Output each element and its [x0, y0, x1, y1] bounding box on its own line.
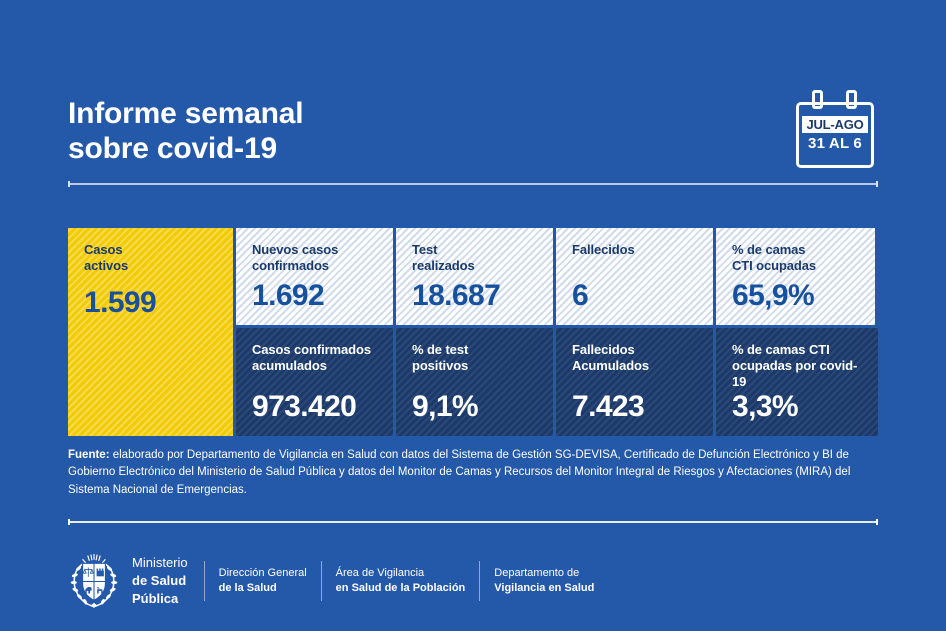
stats-grid: Casos activos 1.599 Nuevos casos confirm… [68, 228, 878, 436]
stat-value: 6 [572, 279, 588, 313]
stat-label: % de test positivos [412, 342, 539, 374]
stat-label: % de camas CTI ocupadas [732, 242, 861, 274]
stat-label: Casos activos [84, 242, 219, 274]
footer-area-line2: en Salud de la Población [336, 581, 466, 596]
divider-top [68, 183, 878, 185]
stat-value: 7.423 [572, 390, 644, 424]
stat-cell-test-realizados: Test realizados 18.687 [396, 228, 556, 328]
footer-direccion-line2: de la Salud [219, 581, 307, 596]
footer-area-line1: Área de Vigilancia [336, 566, 466, 581]
uruguay-coat-of-arms-icon [68, 553, 120, 609]
footer-block-direccion-general: Dirección General de la Salud [205, 566, 321, 596]
footer-departamento-line2: Vigilancia en Salud [494, 581, 594, 596]
source-note-label: Fuente: [68, 449, 110, 461]
stat-label: Casos confirmados acumulados [252, 342, 379, 374]
stat-value: 3,3% [732, 390, 798, 424]
stat-cell-fallecidos: Fallecidos 6 [556, 228, 716, 328]
report-header: Informe semanal sobre covid-19 JUL-AGO 3… [68, 96, 878, 186]
footer-block-departamento: Departamento de Vigilancia en Salud [480, 566, 608, 596]
stat-label: Test realizados [412, 242, 539, 274]
calendar-icon: JUL-AGO 31 AL 6 [796, 90, 878, 170]
stat-value: 1.599 [84, 286, 156, 320]
calendar-month-label: JUL-AGO [802, 116, 868, 133]
stat-value: 65,9% [732, 279, 814, 313]
stat-cell-test-positivos: % de test positivos 9,1% [396, 328, 556, 436]
stat-value: 9,1% [412, 390, 478, 424]
stat-value: 1.692 [252, 279, 324, 313]
stat-label: % de camas CTI ocupadas por covid-19 [732, 342, 864, 390]
calendar-date-range: 31 AL 6 [796, 135, 874, 152]
footer-ministry-line2: de Salud Pública [132, 572, 188, 608]
stat-cell-nuevos-casos-confirmados: Nuevos casos confirmados 1.692 [236, 228, 396, 328]
footer-block-ministry: Ministerio de Salud Pública [120, 554, 204, 608]
stat-label: Nuevos casos confirmados [252, 242, 379, 274]
divider-bottom [68, 521, 878, 523]
footer-departamento-line1: Departamento de [494, 566, 594, 581]
footer: Ministerio de Salud Pública Dirección Ge… [68, 551, 608, 611]
stat-value: 18.687 [412, 279, 500, 313]
stat-cell-camas-cti-ocupadas: % de camas CTI ocupadas 65,9% [716, 228, 878, 328]
stat-cell-casos-activos: Casos activos 1.599 [68, 228, 236, 436]
stat-cell-fallecidos-acumulados: Fallecidos Acumulados 7.423 [556, 328, 716, 436]
footer-direccion-line1: Dirección General [219, 566, 307, 581]
page-title: Informe semanal sobre covid-19 [68, 96, 878, 167]
stat-label: Fallecidos [572, 242, 699, 258]
footer-ministry-line1: Ministerio [132, 554, 188, 572]
stat-cell-casos-confirmados-acumulados: Casos confirmados acumulados 973.420 [236, 328, 396, 436]
source-note: Fuente: elaborado por Departamento de Vi… [68, 447, 886, 499]
footer-block-area-vigilancia: Área de Vigilancia en Salud de la Poblac… [322, 566, 480, 596]
stat-value: 973.420 [252, 390, 356, 424]
stat-label: Fallecidos Acumulados [572, 342, 699, 374]
stat-cell-camas-cti-covid: % de camas CTI ocupadas por covid-19 3,3… [716, 328, 878, 436]
source-note-text: elaborado por Departamento de Vigilancia… [68, 449, 850, 496]
